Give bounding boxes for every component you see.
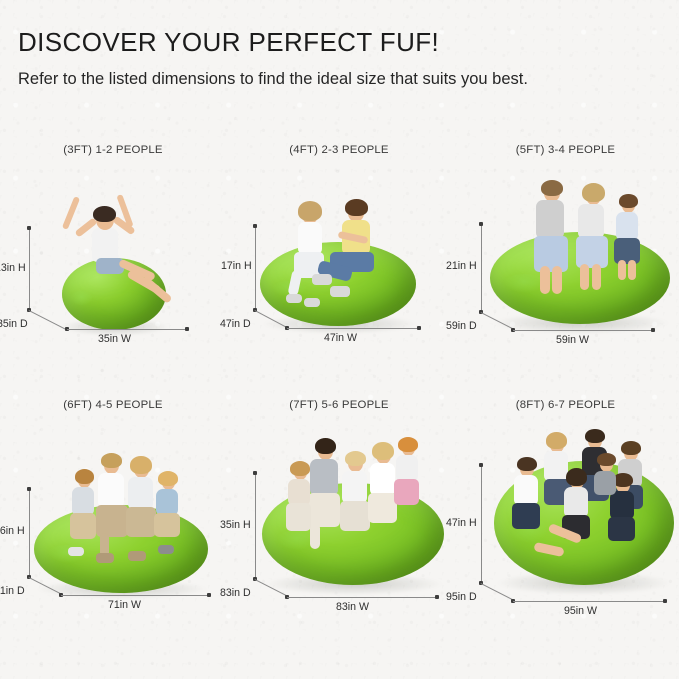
width-dimension-line	[61, 595, 209, 596]
width-dimension-line	[513, 330, 653, 331]
header: DISCOVER YOUR PERFECT FUF! Refer to the …	[18, 28, 618, 92]
product-card-3ft[interactable]: (3FT) 1-2 PEOPLE	[0, 140, 226, 395]
product-caption: (6FT) 4-5 PEOPLE	[0, 399, 226, 411]
width-label: 95in W	[564, 605, 597, 617]
height-dimension-line	[29, 489, 30, 577]
width-label: 83in W	[336, 601, 369, 613]
product-caption: (4FT) 2-3 PEOPLE	[226, 144, 452, 156]
product-illustration-8ft: 47in H 95in D 95in W	[452, 421, 679, 649]
height-label: 47in H	[446, 517, 477, 529]
width-dimension-line	[287, 597, 437, 598]
height-label: 21in H	[446, 260, 477, 272]
height-label: 17in H	[221, 260, 252, 272]
depth-dimension-line	[29, 310, 67, 330]
product-card-7ft[interactable]: (7FT) 5-6 PEOPLE	[226, 395, 452, 650]
width-dimension-line	[513, 601, 665, 602]
product-illustration-3ft: 13in H 35in D 35in W	[0, 166, 226, 394]
product-caption: (7FT) 5-6 PEOPLE	[226, 399, 452, 411]
product-row-2: (6FT) 4-5 PEOPLE	[0, 395, 679, 650]
product-card-8ft[interactable]: (8FT) 6-7 PEOPLE	[452, 395, 679, 650]
product-caption: (8FT) 6-7 PEOPLE	[452, 399, 679, 411]
product-illustration-5ft: 21in H 59in D 59in W	[452, 166, 679, 394]
product-row-1: (3FT) 1-2 PEOPLE	[0, 140, 679, 395]
width-dimension-line	[67, 329, 187, 330]
height-dimension-line	[255, 473, 256, 579]
width-label: 71in W	[108, 599, 141, 611]
product-illustration-4ft: 17in H 47in D 47in W	[226, 166, 452, 394]
page-title: DISCOVER YOUR PERFECT FUF!	[18, 28, 618, 57]
height-label: 35in H	[220, 519, 251, 531]
depth-label: 47in D	[220, 318, 251, 330]
product-caption: (3FT) 1-2 PEOPLE	[0, 144, 226, 156]
width-dimension-line	[287, 328, 419, 329]
height-label: 13in H	[0, 262, 26, 274]
width-label: 35in W	[98, 333, 131, 345]
depth-label: 59in D	[446, 320, 477, 332]
height-label: 26in H	[0, 525, 25, 537]
depth-label: 71in D	[0, 585, 25, 597]
product-caption: (5FT) 3-4 PEOPLE	[452, 144, 679, 156]
depth-label: 83in D	[220, 587, 251, 599]
height-dimension-line	[29, 228, 30, 310]
product-card-5ft[interactable]: (5FT) 3-4 PEOPLE	[452, 140, 679, 395]
depth-label: 95in D	[446, 591, 477, 603]
height-dimension-line	[481, 224, 482, 312]
height-dimension-line	[255, 226, 256, 310]
product-card-4ft[interactable]: (4FT) 2-3 PEOPLE	[226, 140, 452, 395]
product-illustration-6ft: 26in H 71in D 71in W	[0, 421, 226, 649]
product-card-6ft[interactable]: (6FT) 4-5 PEOPLE	[0, 395, 226, 650]
product-illustration-7ft: 35in H 83in D 83in W	[226, 421, 452, 649]
page-subtitle: Refer to the listed dimensions to find t…	[18, 68, 578, 92]
width-label: 47in W	[324, 332, 357, 344]
depth-label: 35in D	[0, 318, 28, 330]
width-label: 59in W	[556, 334, 589, 346]
height-dimension-line	[481, 465, 482, 583]
product-grid: (3FT) 1-2 PEOPLE	[0, 140, 679, 650]
